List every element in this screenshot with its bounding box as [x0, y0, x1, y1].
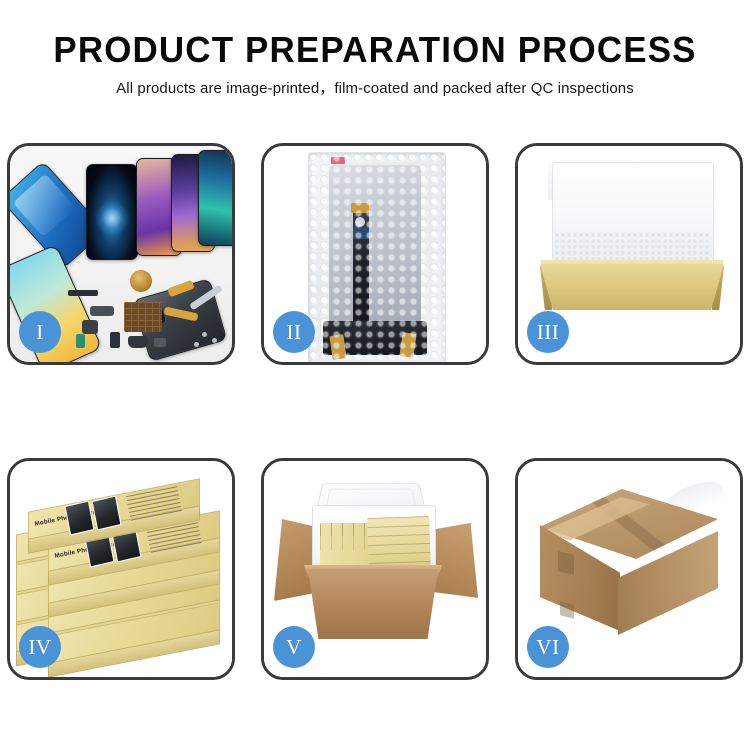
retail-box-window-1a — [64, 500, 94, 535]
screw-part-3 — [194, 342, 199, 347]
repair-tool-part — [189, 285, 223, 311]
vibration-motor-part — [130, 270, 152, 292]
process-step-panel-4: Mobile Phone Spare Parts Mobile Phone Sp… — [7, 458, 235, 680]
retail-box-window-1b — [91, 495, 121, 530]
flex-driver-chip — [353, 227, 369, 239]
page-title: PRODUCT PREPARATION PROCESS — [11, 28, 739, 72]
camera-module-part-2 — [82, 320, 98, 334]
spare-parts-cluster — [76, 276, 226, 356]
retail-box-front-5 — [48, 619, 220, 663]
process-step-panel-5: V — [261, 458, 489, 680]
earpiece-part — [128, 336, 148, 348]
screw-part-1 — [202, 332, 207, 337]
camera-module-part — [90, 306, 114, 316]
step-badge-3: III — [527, 311, 569, 353]
step-badge-4: IV — [19, 626, 61, 668]
carton-mark-lower — [560, 601, 574, 618]
bubble-wrap-bag — [308, 152, 446, 362]
screw-part-2 — [212, 338, 217, 343]
phone-screen-teal — [198, 150, 232, 246]
small-component-green — [76, 334, 85, 348]
flex-gold-contact — [351, 203, 369, 213]
step-badge-6: VI — [527, 626, 569, 668]
step-badge-2: II — [273, 311, 315, 353]
carton-front-panel — [308, 569, 438, 639]
small-component-gray — [154, 338, 166, 347]
step-badge-5: V — [273, 626, 315, 668]
flex-round-component — [355, 217, 365, 227]
page-subtitle: All products are image-printed，film-coat… — [0, 78, 750, 100]
button-part — [110, 332, 120, 348]
pink-tape-marker — [331, 157, 345, 164]
flex-cable-part-1 — [167, 280, 195, 297]
process-step-panel-6: VI — [515, 458, 743, 680]
step-badge-1: I — [19, 311, 61, 353]
retail-boxes-row-right — [367, 516, 431, 572]
process-step-panel-1: I — [7, 143, 235, 365]
chip-grid-part — [124, 302, 162, 332]
lcd-screen-assembly — [329, 165, 421, 325]
phone-screen-black-burst — [86, 164, 138, 260]
process-step-grid: I II — [0, 143, 750, 683]
page-header: PRODUCT PREPARATION PROCESS All products… — [0, 0, 750, 100]
speaker-bar-part — [68, 290, 98, 296]
carton-mark-upper — [558, 551, 574, 575]
kraft-tray-front — [540, 264, 724, 310]
process-step-panel-3: III — [515, 143, 743, 365]
process-step-panel-2: II — [261, 143, 489, 365]
